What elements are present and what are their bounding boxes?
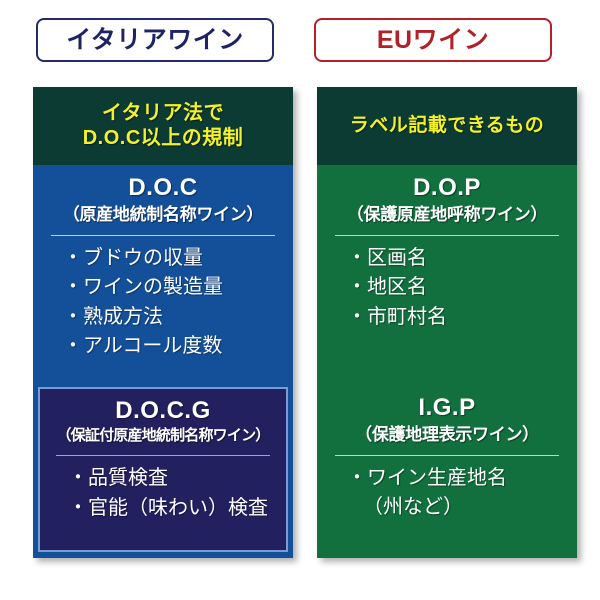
list-item: ・アルコール度数 (63, 332, 285, 362)
dop-panel: D.O.P （保護原産地呼称ワイン） ・区画名 ・地区名 ・市町村名 (317, 165, 577, 385)
label-listing-banner-line-1: ラベル記載できるもの (350, 114, 545, 138)
wine-classification-diagram: イタリアワイン EUワイン イタリア法で D.O.C以上の規制 D.O.C （原… (0, 0, 600, 600)
list-item: ・ワイン生産地名 (347, 464, 569, 494)
doc-panel: D.O.C （原産地統制名称ワイン） ・ブドウの収量 ・ワインの製造量 ・熟成方… (33, 165, 293, 387)
doc-name-label: D.O.C (41, 175, 285, 201)
list-item: （州など） (347, 493, 569, 523)
list-item: ・区画名 (347, 244, 569, 274)
italian-wine-column: イタリア法で D.O.C以上の規制 D.O.C （原産地統制名称ワイン） ・ブド… (33, 87, 293, 558)
label-listing-banner: ラベル記載できるもの (317, 87, 577, 165)
doc-subtitle-label: （原産地統制名称ワイン） (41, 204, 285, 225)
list-item: ・ブドウの収量 (63, 244, 285, 274)
dop-name-label: D.O.P (325, 175, 569, 201)
dop-items-list: ・区画名 ・地区名 ・市町村名 (325, 244, 569, 333)
docg-panel-wrapper: D.O.C.G （保証付原産地統制名称ワイン） ・品質検査 ・官能（味わい）検査 (33, 387, 293, 558)
list-item: ・熟成方法 (63, 303, 285, 333)
dop-subtitle-label: （保護原産地呼称ワイン） (325, 204, 569, 225)
italian-wine-title-label: イタリアワイン (66, 28, 244, 53)
docg-divider (56, 455, 270, 456)
igp-subtitle-label: （保護地理表示ワイン） (325, 424, 569, 445)
igp-panel: I.G.P （保護地理表示ワイン） ・ワイン生産地名 （州など） (317, 385, 577, 558)
dop-divider (335, 235, 559, 236)
docg-panel: D.O.C.G （保証付原産地統制名称ワイン） ・品質検査 ・官能（味わい）検査 (38, 387, 288, 552)
list-item: ・地区名 (347, 273, 569, 303)
doc-divider (51, 235, 275, 236)
eu-wine-title-label: EUワイン (377, 28, 489, 53)
igp-divider (335, 455, 559, 456)
igp-items-list: ・ワイン生産地名 （州など） (325, 464, 569, 523)
list-item: ・官能（味わい）検査 (68, 494, 280, 524)
igp-name-label: I.G.P (325, 395, 569, 421)
italian-law-banner: イタリア法で D.O.C以上の規制 (33, 87, 293, 165)
docg-criteria-list: ・品質検査 ・官能（味わい）検査 (46, 464, 280, 523)
docg-subtitle-label: （保証付原産地統制名称ワイン） (46, 427, 280, 446)
list-item: ・品質検査 (68, 464, 280, 494)
italian-wine-title-pill: イタリアワイン (36, 18, 274, 62)
doc-criteria-list: ・ブドウの収量 ・ワインの製造量 ・熟成方法 ・アルコール度数 (41, 244, 285, 362)
eu-wine-title-pill: EUワイン (314, 18, 552, 62)
eu-wine-column: ラベル記載できるもの D.O.P （保護原産地呼称ワイン） ・区画名 ・地区名 … (317, 87, 577, 558)
italian-law-banner-line-2: D.O.C以上の規制 (83, 126, 244, 151)
list-item: ・市町村名 (347, 303, 569, 333)
italian-law-banner-line-1: イタリア法で (102, 101, 224, 126)
docg-name-label: D.O.C.G (46, 398, 280, 424)
list-item: ・ワインの製造量 (63, 273, 285, 303)
